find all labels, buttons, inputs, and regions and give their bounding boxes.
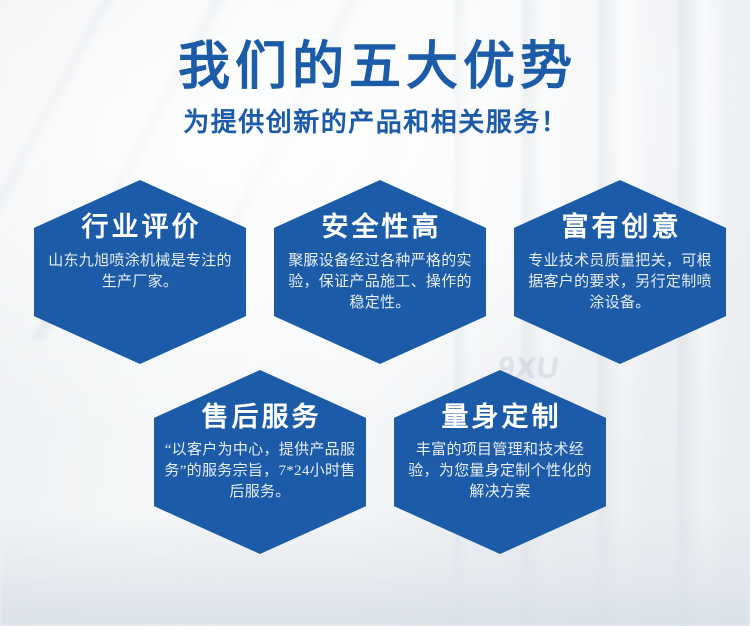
advantage-title: 行业评价 <box>79 210 202 244</box>
advantage-title: 售后服务 <box>199 400 322 434</box>
advantage-body: 丰富的项目管理和技术经验，为您量身定制个性化的解决方案 <box>402 440 598 503</box>
advantage-body: “以客户为中心，提供产品服务”的服务宗旨，7*24小时售后服务。 <box>162 440 358 503</box>
page-subtitle: 为提供创新的产品和相关服务！ <box>0 107 750 139</box>
advantage-title: 安全性高 <box>319 210 442 244</box>
heading-block: 我们的五大优势 为提供创新的产品和相关服务！ <box>0 38 750 139</box>
advantage-title: 量身定制 <box>439 400 562 434</box>
advantage-title: 富有创意 <box>559 210 682 244</box>
advantage-body: 专业技术员质量把关，可根据客户的要求，另行定制喷涂设备。 <box>522 251 718 314</box>
page-title: 我们的五大优势 <box>0 38 750 98</box>
advantage-body: 聚脲设备经过各种严格的实验，保证产品施工、操作的稳定性。 <box>282 251 478 314</box>
promo-banner: 9XU 我们的五大优势 为提供创新的产品和相关服务！ 行业评价 山东九旭喷涂机械… <box>0 0 750 626</box>
background-floor <box>0 518 750 626</box>
advantage-body: 山东九旭喷涂机械是专注的生产厂家。 <box>42 251 238 293</box>
